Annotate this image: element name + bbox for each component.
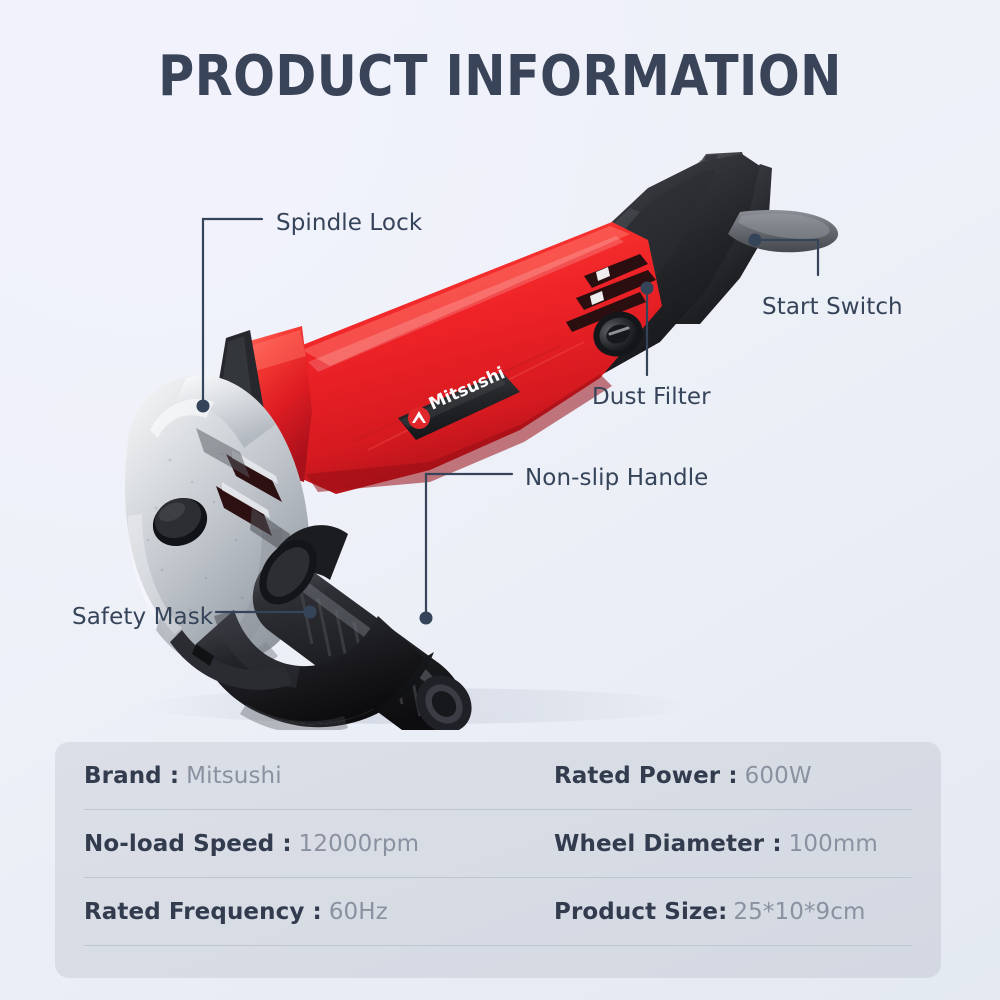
- spec-value: Mitsushi: [186, 763, 282, 789]
- callout-safety-mask: Safety Mask: [72, 603, 213, 631]
- spec-value: 25*10*9cm: [733, 899, 865, 925]
- spec-row: Brand : Mitsushi Rated Power : 600W: [55, 742, 941, 810]
- spec-label: No-load Speed :: [84, 831, 292, 857]
- leader-spindle-lock: [203, 219, 262, 404]
- spec-label: Brand :: [84, 763, 179, 789]
- spec-brand: Brand : Mitsushi: [84, 763, 554, 789]
- spec-label: Product Size:: [554, 899, 727, 925]
- callout-start-switch: Start Switch: [762, 293, 903, 321]
- spec-row: Rated Frequency : 60Hz Product Size: 25*…: [55, 878, 941, 946]
- callout-spindle-lock: Spindle Lock: [276, 209, 422, 237]
- leader-dot-dust-filter: [641, 282, 654, 295]
- spec-rated-frequency: Rated Frequency : 60Hz: [84, 899, 554, 925]
- spec-wheel-diameter: Wheel Diameter : 100mm: [554, 831, 878, 857]
- spec-label: Rated Frequency :: [84, 899, 322, 925]
- spec-no-load-speed: No-load Speed : 12000rpm: [84, 831, 554, 857]
- callout-dust-filter: Dust Filter: [592, 383, 711, 411]
- spec-label: Rated Power :: [554, 763, 738, 789]
- spec-product-size: Product Size: 25*10*9cm: [554, 899, 866, 925]
- callout-annotations: Spindle Lock Start Switch Dust Filter No…: [0, 0, 1000, 740]
- leader-dot-start-switch: [749, 234, 762, 247]
- spec-rated-power: Rated Power : 600W: [554, 763, 812, 789]
- spec-value: 600W: [745, 763, 812, 789]
- spec-value: 100mm: [789, 831, 878, 857]
- spec-label: Wheel Diameter :: [554, 831, 782, 857]
- spec-divider: [84, 945, 912, 946]
- product-information-page: PRODUCT INFORMATION: [0, 0, 1000, 1000]
- leader-dot-non-slip-handle: [420, 612, 433, 625]
- specifications-panel: Brand : Mitsushi Rated Power : 600W No-l…: [55, 742, 941, 978]
- spec-value: 60Hz: [329, 899, 388, 925]
- spec-value: 12000rpm: [299, 831, 419, 857]
- leader-dot-safety-mask: [304, 606, 317, 619]
- leader-non-slip-handle: [426, 474, 512, 616]
- callout-non-slip-handle: Non-slip Handle: [525, 464, 708, 492]
- leader-dot-spindle-lock: [197, 400, 210, 413]
- leader-start-switch: [757, 240, 818, 275]
- spec-row: No-load Speed : 12000rpm Wheel Diameter …: [55, 810, 941, 878]
